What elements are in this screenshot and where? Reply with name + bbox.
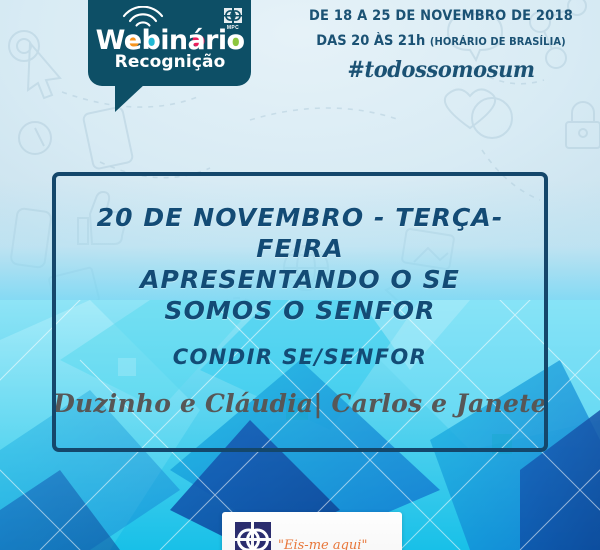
footer-logo-card: "Eis-me aqui" xyxy=(222,512,402,550)
event-time: DAS 20 ÀS 21h xyxy=(316,33,425,49)
power-icon xyxy=(19,122,51,154)
heart-icon xyxy=(445,89,495,128)
session-presenters: Duzinho e Cláudia| Carlos e Janete xyxy=(53,389,547,418)
session-subhead: CONDIR SE/SENFOR xyxy=(173,345,428,369)
mfc-logo-icon xyxy=(234,521,272,550)
headline-line-3: SOMOS O SENFOR xyxy=(56,295,544,326)
target-icon xyxy=(9,31,39,61)
globe-icon xyxy=(472,98,512,138)
recognicao-subtitle: Recognição xyxy=(94,52,246,72)
webinario-text: Webinário xyxy=(96,25,245,54)
bubble-tail xyxy=(115,84,145,112)
session-headline: 20 DE NOVEMBRO - TERÇA-FEIRA APRESENTAND… xyxy=(56,202,544,326)
webinario-wordmark: Webinário xyxy=(94,24,246,54)
tablet-icon xyxy=(83,106,134,169)
main-content: 20 DE NOVEMBRO - TERÇA-FEIRA APRESENTAND… xyxy=(56,176,544,448)
event-date-range: DE 18 A 25 DE NOVEMBRO DE 2018 xyxy=(298,8,584,24)
event-hashtag: #todossomosum xyxy=(290,57,592,83)
phone-icon xyxy=(10,208,51,268)
main-content-frame: 20 DE NOVEMBRO - TERÇA-FEIRA APRESENTAND… xyxy=(52,172,548,452)
header-info-block: DE 18 A 25 DE NOVEMBRO DE 2018 DAS 20 ÀS… xyxy=(282,8,600,83)
event-timezone-note: (HORÁRIO DE BRASÍLIA) xyxy=(430,35,566,48)
event-time-line: DAS 20 ÀS 21h (HORÁRIO DE BRASÍLIA) xyxy=(298,33,584,49)
footer-quote: "Eis-me aqui" xyxy=(278,538,398,550)
headline-line-1: 20 DE NOVEMBRO - TERÇA-FEIRA xyxy=(56,202,544,264)
headline-line-2: APRESENTANDO O SE xyxy=(56,264,544,295)
poster-canvas: MPC Webinário Recognição DE 18 A 25 DE N… xyxy=(0,0,600,550)
lock-icon xyxy=(566,102,600,148)
mpc-mark-icon xyxy=(223,7,243,24)
cursor-icon xyxy=(28,43,60,98)
